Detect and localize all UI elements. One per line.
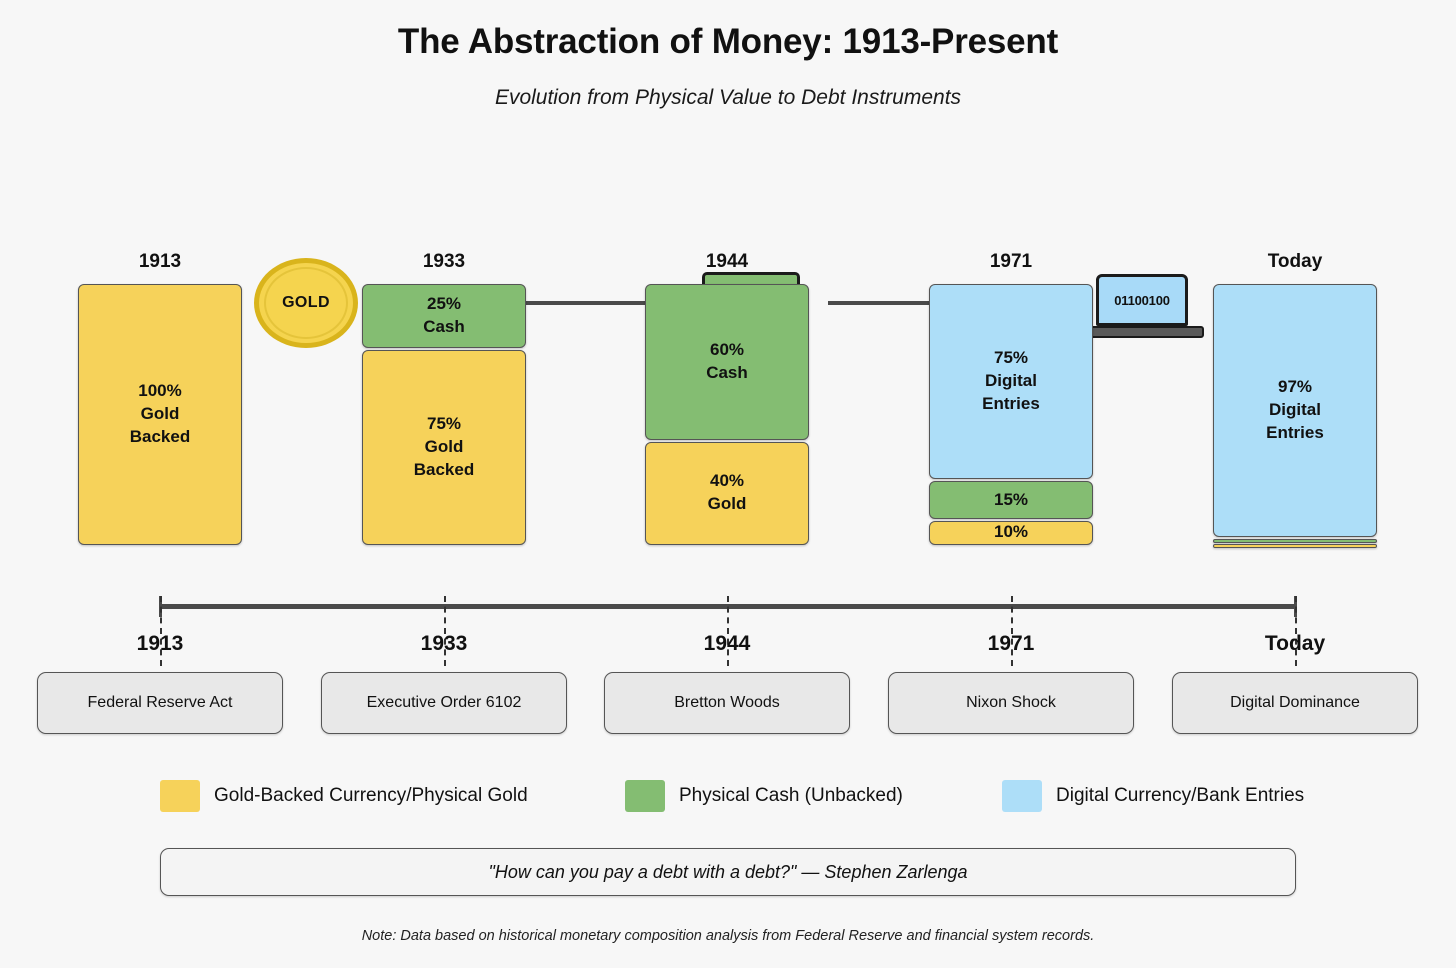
bar-segment-gold-10: 10% — [929, 521, 1093, 545]
timeline-year-label: 1913 — [60, 632, 260, 656]
page-title: The Abstraction of Money: 1913-Present — [0, 22, 1456, 62]
bar-segment-text: 10% — [994, 521, 1028, 544]
timeline-event-boxes: Federal Reserve ActExecutive Order 6102B… — [0, 672, 1456, 736]
bar-segment-text: Digital — [1269, 399, 1321, 422]
bar-year-label: 1933 — [344, 250, 544, 274]
chart-legend: Gold-Backed Currency/Physical GoldPhysic… — [0, 780, 1456, 824]
legend-swatch-icon — [625, 780, 665, 812]
timeline-axis: 1913193319441971Today — [0, 596, 1456, 656]
bar-segment-text: Gold — [425, 436, 464, 459]
bar-segment-text: 25% — [427, 293, 461, 316]
legend-swatch-icon — [160, 780, 200, 812]
timeline-year-label: 1933 — [344, 632, 544, 656]
bar-segment-green-25: 25%Cash — [362, 284, 526, 348]
bar-segment-text: Entries — [982, 393, 1040, 416]
legend-swatch-icon — [1002, 780, 1042, 812]
legend-label: Physical Cash (Unbacked) — [679, 785, 903, 807]
bar-year-label: 1913 — [60, 250, 260, 274]
event-box-executive-order-6102[interactable]: Executive Order 6102 — [321, 672, 567, 734]
bar-year-label: 1971 — [911, 250, 1111, 274]
event-box-bretton-woods[interactable]: Bretton Woods — [604, 672, 850, 734]
bar-segment-gold-1 — [1213, 544, 1377, 548]
event-box-nixon-shock[interactable]: Nixon Shock — [888, 672, 1134, 734]
bar-segment-text: Entries — [1266, 422, 1324, 445]
bar-segment-green-60: 60%Cash — [645, 284, 809, 440]
bar-column-1944: 194460%Cash40%Gold — [627, 250, 827, 547]
bar-segment-green-15: 15% — [929, 481, 1093, 518]
legend-label: Gold-Backed Currency/Physical Gold — [214, 785, 528, 807]
bar-segment-text: Backed — [414, 459, 474, 482]
bar-column-1971: 197175%DigitalEntries15%10% — [911, 250, 1111, 547]
footnote: Note: Data based on historical monetary … — [0, 928, 1456, 944]
bar-segment-blue-75: 75%DigitalEntries — [929, 284, 1093, 479]
bar-segment-green-2 — [1213, 539, 1377, 543]
bar-segment-text: 60% — [710, 339, 744, 362]
bar-segment-text: Cash — [423, 316, 465, 339]
bar-stack: 60%Cash40%Gold — [645, 284, 809, 547]
bar-segment-text: 75% — [427, 413, 461, 436]
legend-item-3[interactable]: Digital Currency/Bank Entries — [1002, 780, 1304, 812]
bar-segment-text: Digital — [985, 370, 1037, 393]
bar-segment-blue-97: 97%DigitalEntries — [1213, 284, 1377, 537]
bar-column-today: Today97%DigitalEntries — [1195, 250, 1395, 547]
timeline-year-label: 1971 — [911, 632, 1111, 656]
bar-year-label: Today — [1195, 250, 1395, 274]
page-subtitle: Evolution from Physical Value to Debt In… — [0, 86, 1456, 110]
bar-column-1913: 1913100%GoldBacked — [60, 250, 260, 547]
bar-year-label: 1944 — [627, 250, 827, 274]
bar-segment-text: Gold — [708, 493, 747, 516]
legend-label: Digital Currency/Bank Entries — [1056, 785, 1304, 807]
bar-stack: 97%DigitalEntries — [1213, 284, 1377, 547]
quote-banner: "How can you pay a debt with a debt?" — … — [160, 848, 1296, 896]
bar-segment-text: Gold — [141, 403, 180, 426]
bar-segment-gold-75: 75%GoldBacked — [362, 350, 526, 545]
bar-segment-text: 100% — [138, 380, 181, 403]
bar-stack: 25%Cash75%GoldBacked — [362, 284, 526, 547]
bar-segment-text: 75% — [994, 347, 1028, 370]
bar-column-1933: 193325%Cash75%GoldBacked — [344, 250, 544, 547]
stacked-bar-chart: 1913100%GoldBacked193325%Cash75%GoldBack… — [0, 250, 1456, 560]
bar-segment-gold-100: 100%GoldBacked — [78, 284, 242, 545]
bar-stack: 75%DigitalEntries15%10% — [929, 284, 1093, 547]
bar-segment-gold-40: 40%Gold — [645, 442, 809, 545]
bar-segment-text: Cash — [706, 362, 748, 385]
event-box-digital-dominance[interactable]: Digital Dominance — [1172, 672, 1418, 734]
event-box-federal-reserve-act[interactable]: Federal Reserve Act — [37, 672, 283, 734]
bar-segment-text: 15% — [994, 489, 1028, 512]
timeline-year-label: 1944 — [627, 632, 827, 656]
legend-item-2[interactable]: Physical Cash (Unbacked) — [625, 780, 903, 812]
legend-item-1[interactable]: Gold-Backed Currency/Physical Gold — [160, 780, 528, 812]
timeline-year-label: Today — [1195, 632, 1395, 656]
infographic-canvas: The Abstraction of Money: 1913-Present E… — [0, 0, 1456, 968]
bar-segment-text: Backed — [130, 426, 190, 449]
evolution-flow-row: GOLD $ 01100100 — [0, 128, 1456, 224]
bar-segment-text: 40% — [710, 470, 744, 493]
bar-stack: 100%GoldBacked — [78, 284, 242, 547]
bar-segment-text: 97% — [1278, 376, 1312, 399]
